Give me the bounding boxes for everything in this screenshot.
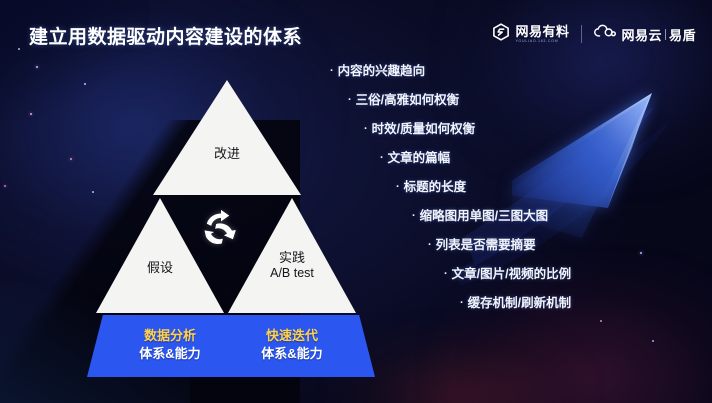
bullet-item-1-label: 三俗/高雅如何权衡: [356, 89, 459, 108]
logo-divider: [581, 25, 582, 43]
bullet-item-6: · 列表是否需要摘要: [330, 234, 710, 263]
bullet-marker-icon: ·: [348, 94, 352, 106]
bullet-item-8-label: 缓存机制/刷新机制: [468, 292, 571, 311]
cloud-logo-icon: [594, 24, 616, 45]
pyramid-base-bar: 数据分析 体系&能力 快速迭代 体系&能力: [87, 315, 375, 377]
bullet-marker-icon: ·: [396, 181, 400, 193]
bullet-item-3-label: 文章的篇幅: [388, 147, 451, 166]
pyramid-base-item-1-line2: 体系&能力: [237, 345, 347, 363]
bullet-item-4-label: 标题的长度: [404, 176, 467, 195]
bullet-marker-icon: ·: [460, 297, 464, 309]
logo-wangyiyun: 网易云 易盾: [594, 24, 696, 45]
logo-youliao-name: 网易有料: [515, 25, 569, 38]
bullet-marker-icon: ·: [428, 239, 432, 251]
pyramid-triangle-top-label: 改进: [153, 146, 301, 162]
pyramid-triangle-top: 改进: [153, 80, 301, 195]
bullet-marker-icon: ·: [330, 65, 334, 77]
bullet-item-4: · 标题的长度: [330, 176, 710, 205]
bullet-item-1: · 三俗/高雅如何权衡: [330, 89, 710, 118]
pyramid-base-item-1-line1: 快速迭代: [237, 327, 347, 345]
logo-inner-divider: [665, 29, 666, 40]
bullet-marker-icon: ·: [364, 123, 368, 135]
recycle-icon: [199, 203, 243, 247]
pyramid-base-item-0-line2: 体系&能力: [115, 345, 225, 363]
bullet-item-0-label: 内容的兴趣趋向: [338, 60, 426, 79]
pyramid-base-item-1: 快速迭代 体系&能力: [237, 327, 347, 362]
logo-youliao: 网易有料 YOULIAO.163.COM: [492, 23, 569, 46]
bullet-list: · 内容的兴趣趋向 · 三俗/高雅如何权衡 · 时效/质量如何权衡 · 文章的篇…: [330, 60, 710, 321]
bullet-item-6-label: 列表是否需要摘要: [436, 234, 536, 253]
logo-wangyiyun-text: 网易云 易盾: [621, 25, 696, 44]
bullet-item-2: · 时效/质量如何权衡: [330, 118, 710, 147]
logo-yidun-name: 易盾: [669, 25, 696, 44]
hexagon-logo-icon: [492, 23, 510, 46]
bullet-marker-icon: ·: [412, 210, 416, 222]
pyramid-triangle-right-title: 实践: [279, 250, 305, 265]
pyramid-base-item-0-line1: 数据分析: [115, 327, 225, 345]
logo-youliao-subtitle: YOULIAO.163.COM: [515, 40, 569, 44]
logo-wangyiyun-name: 网易云: [621, 25, 662, 44]
bullet-marker-icon: ·: [380, 152, 384, 164]
slide-canvas: 建立用数据驱动内容建设的体系 网易有料 YOULIAO.163.COM: [0, 0, 712, 403]
bullet-item-7-label: 文章/图片/视频的比例: [452, 263, 571, 282]
bullet-item-7: · 文章/图片/视频的比例: [330, 263, 710, 292]
pyramid-triangle-left-label: 假设: [96, 260, 224, 276]
pyramid-base-item-0: 数据分析 体系&能力: [115, 327, 225, 362]
bullet-marker-icon: ·: [444, 268, 448, 280]
bullet-item-8: · 缓存机制/刷新机制: [330, 292, 710, 321]
bullet-item-3: · 文章的篇幅: [330, 147, 710, 176]
bullet-item-5-label: 缩略图用单图/三图大图: [420, 205, 548, 224]
bullet-item-0: · 内容的兴趣趋向: [330, 60, 710, 89]
bullet-item-2-label: 时效/质量如何权衡: [372, 118, 475, 137]
logo-youliao-text: 网易有料 YOULIAO.163.COM: [515, 25, 569, 44]
bullet-item-5: · 缩略图用单图/三图大图: [330, 205, 710, 234]
logo-group: 网易有料 YOULIAO.163.COM 网易云 易盾: [492, 20, 696, 48]
